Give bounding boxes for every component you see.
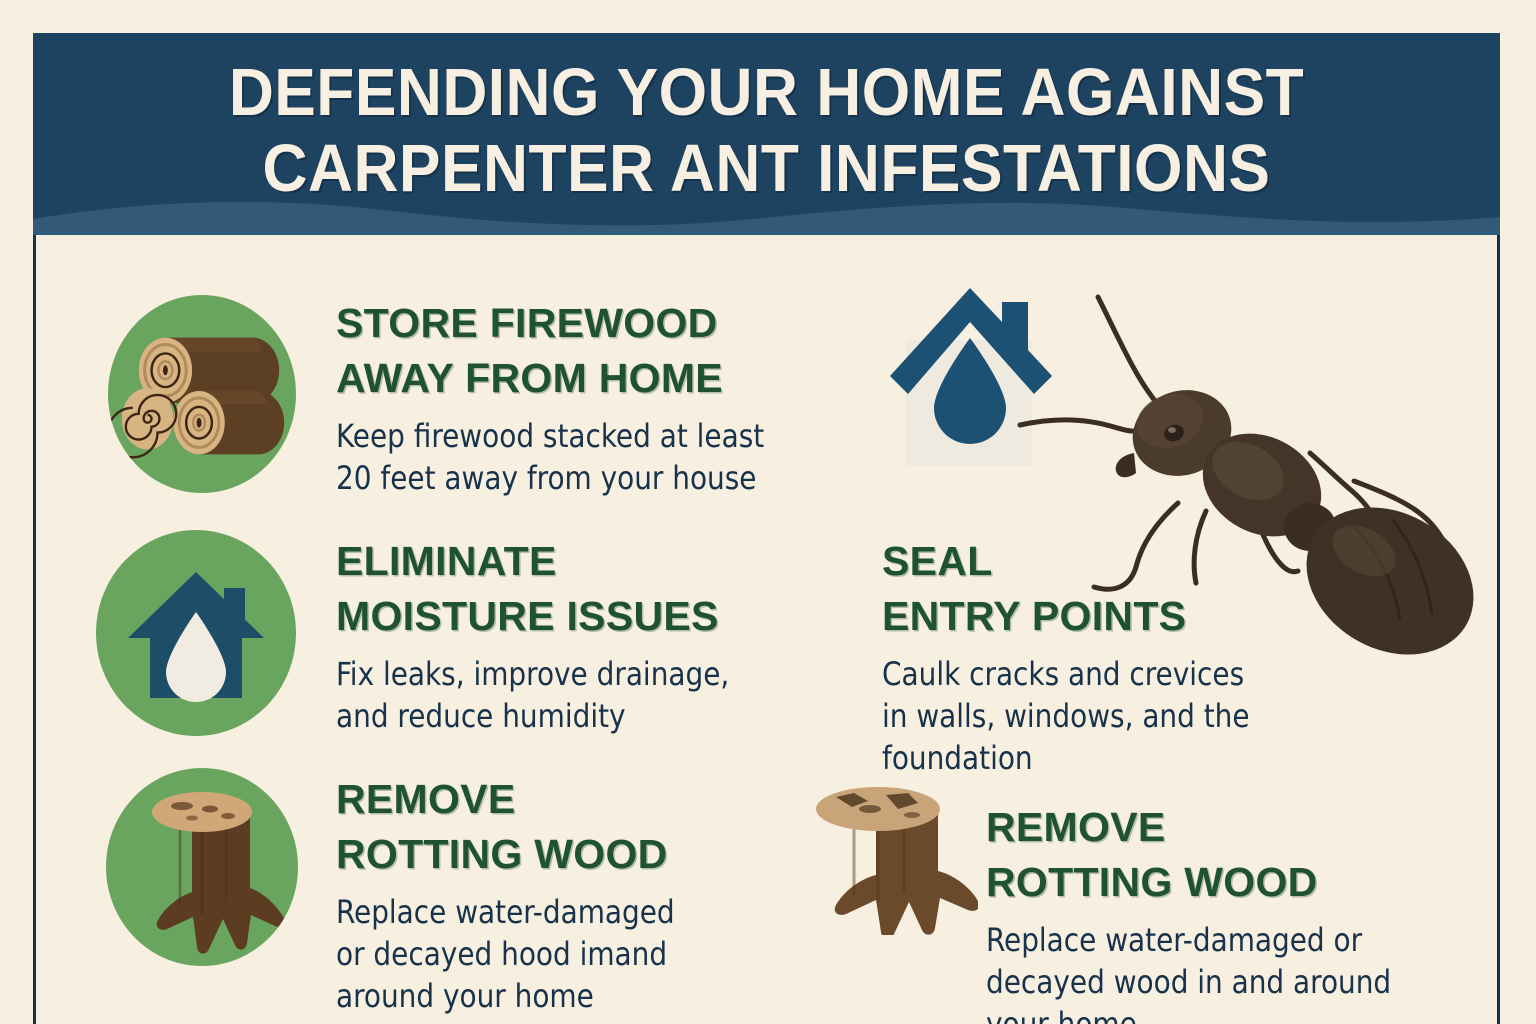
tip-body-line: your home [986, 1003, 1391, 1024]
tip-remove-rotting-wood: REMOVE ROTTING WOOD Replace water-damage… [336, 772, 685, 1017]
tip-title-line: AWAY FROM HOME [336, 351, 777, 406]
tip-body-line: or decayed hood imand [336, 933, 675, 975]
icon-house-moisture [96, 530, 296, 736]
tip-title: ELIMINATE MOISTURE ISSUES [336, 534, 741, 644]
tip-title-line: STORE FIREWOOD [336, 296, 777, 351]
tree-stump-illustration [778, 775, 978, 935]
tip-title-line: ROTTING WOOD [336, 827, 685, 882]
page-title-line-1: DEFENDING YOUR HOME AGAINST [84, 55, 1448, 131]
icon-tree-stump [106, 768, 298, 966]
firewood-logs-icon [108, 295, 296, 493]
tip-body: Replace water-damaged or decayed wood in… [986, 919, 1391, 1024]
tip-body-line: and reduce humidity [336, 695, 729, 737]
infographic-poster: DEFENDING YOUR HOME AGAINST CARPENTER AN… [0, 0, 1536, 1024]
tip-body: Replace water-damaged or decayed hood im… [336, 891, 675, 1017]
house-water-drop-icon [96, 530, 296, 736]
page-title: DEFENDING YOUR HOME AGAINST CARPENTER AN… [84, 55, 1448, 207]
tip-store-firewood: STORE FIREWOOD AWAY FROM HOME Keep firew… [336, 296, 777, 499]
tip-body-line: decayed wood in and around [986, 961, 1391, 1003]
left-border-rule [33, 235, 36, 1024]
tip-body-line: Keep firewood stacked at least [336, 415, 764, 457]
tip-title-line: ROTTING WOOD [986, 855, 1404, 910]
carpenter-ant-illustration [1010, 275, 1500, 745]
tip-title: STORE FIREWOOD AWAY FROM HOME [336, 296, 777, 406]
tip-body-line: Fix leaks, improve drainage, [336, 653, 729, 695]
tip-body-line: 20 feet away from your house [336, 457, 764, 499]
tip-remove-rotting-wood-duplicate: REMOVE ROTTING WOOD Replace water-damage… [986, 800, 1404, 1024]
poster-header: DEFENDING YOUR HOME AGAINST CARPENTER AN… [33, 33, 1500, 235]
tip-body: Fix leaks, improve drainage, and reduce … [336, 653, 729, 737]
tip-body: Keep firewood stacked at least 20 feet a… [336, 415, 764, 499]
tip-title: REMOVE ROTTING WOOD [986, 800, 1404, 910]
header-baseline [33, 232, 1500, 235]
tip-title-line: REMOVE [986, 800, 1404, 855]
tree-stump-icon [106, 768, 298, 966]
page-title-line-2: CARPENTER ANT INFESTATIONS [84, 131, 1448, 207]
tip-body-line: Replace water-damaged or [986, 919, 1391, 961]
tip-title-line: ELIMINATE [336, 534, 741, 589]
tip-title-line: MOISTURE ISSUES [336, 589, 741, 644]
tip-eliminate-moisture: ELIMINATE MOISTURE ISSUES Fix leaks, imp… [336, 534, 741, 737]
tip-title-line: REMOVE [336, 772, 685, 827]
tip-body-line: Replace water-damaged [336, 891, 675, 933]
icon-firewood-logs [108, 295, 296, 493]
tip-body-line: around your home [336, 975, 675, 1017]
tip-title: REMOVE ROTTING WOOD [336, 772, 685, 882]
